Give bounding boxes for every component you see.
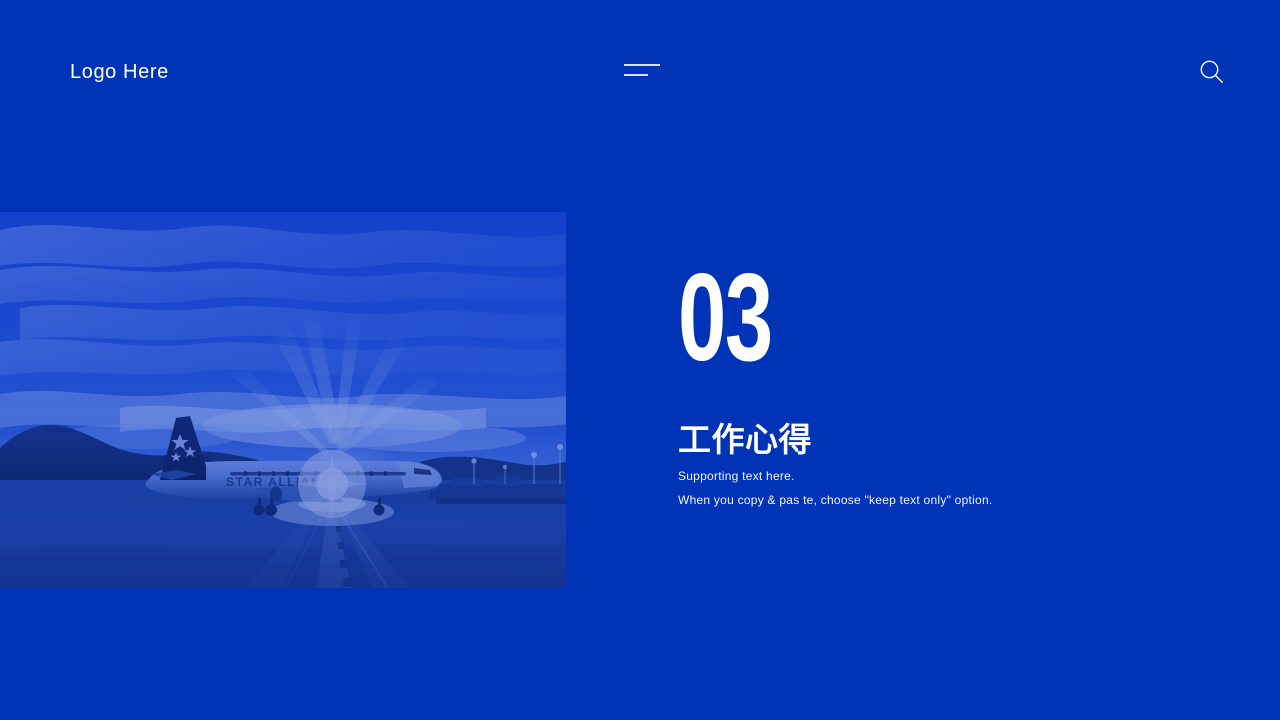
hamburger-menu-icon[interactable]: [624, 62, 664, 80]
supporting-text-line-1: Supporting text here.: [678, 469, 1158, 483]
supporting-text-line-2: When you copy & pas te, choose "keep tex…: [678, 493, 1158, 507]
top-navigation-bar: Logo Here: [0, 0, 1280, 145]
page-title: 工作心得: [678, 420, 812, 460]
hamburger-line-bottom: [624, 74, 648, 76]
search-icon[interactable]: [1198, 58, 1226, 86]
airplane-runway-photo: STAR ALLIANCE: [0, 212, 566, 588]
supporting-text-block: Supporting text here. When you copy & pa…: [678, 469, 1158, 507]
section-number: 03: [678, 270, 1049, 370]
hamburger-line-top: [624, 64, 660, 66]
logo-text[interactable]: Logo Here: [70, 60, 169, 84]
slide-canvas: Logo Here: [0, 0, 1280, 720]
section-content: 03 工作心得 Supporting text here. When you c…: [678, 270, 1208, 370]
photo-image: STAR ALLIANCE: [0, 212, 566, 588]
